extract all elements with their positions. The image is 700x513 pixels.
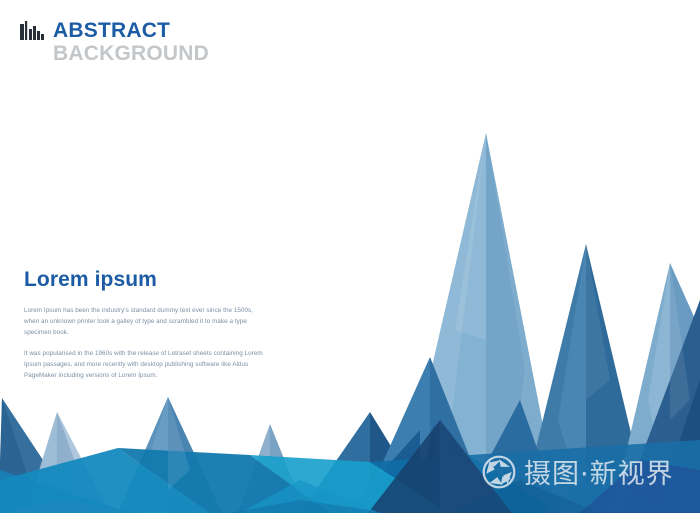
copy-title: Lorem ipsum <box>24 268 264 292</box>
watermark-text: 摄图·新视界 <box>524 452 674 491</box>
copy-paragraph-1: Lorem Ipsum has been the industry's stan… <box>24 305 264 338</box>
brand-wordmark: ABSTRACT BACKGROUND <box>53 20 209 64</box>
abstract-background-poster: ABSTRACT BACKGROUND Lorem ipsum Lorem Ip… <box>0 0 700 513</box>
copy-block: Lorem ipsum Lorem Ipsum has been the ind… <box>24 268 264 381</box>
camera-aperture-icon <box>482 455 516 489</box>
overlay-sliver-a <box>455 133 486 340</box>
bar-chart-logo-icon <box>20 21 46 40</box>
watermark: 摄图·新视界 <box>482 452 674 491</box>
brand-line-abstract: ABSTRACT <box>53 20 209 41</box>
brand-line-background: BACKGROUND <box>53 43 209 64</box>
brand-lockup: ABSTRACT BACKGROUND <box>20 20 209 64</box>
low-poly-mountain-artwork <box>0 0 700 513</box>
copy-paragraph-2: It was popularised in the 1960s with the… <box>24 348 264 381</box>
overlay-sliver-b <box>586 244 610 400</box>
